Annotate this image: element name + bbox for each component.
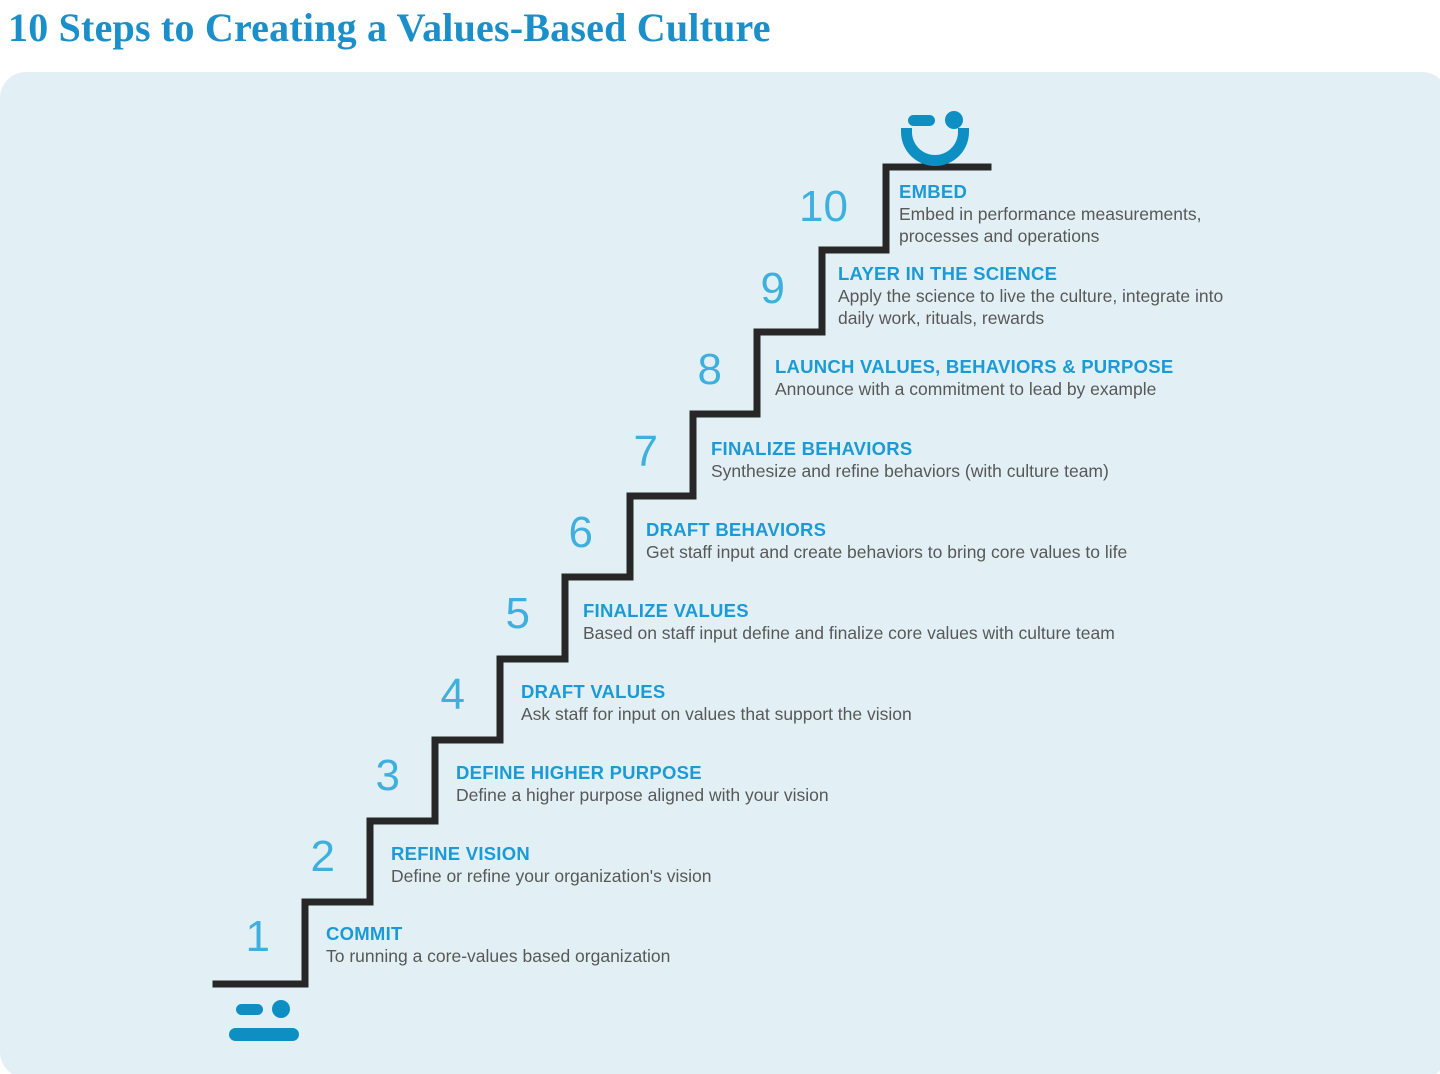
infographic-page: 10 Steps to Creating a Values-Based Cult… (0, 0, 1440, 1074)
step-number-1: 1 (200, 915, 270, 959)
step-description-6: Get staff input and create behaviors to … (646, 541, 1127, 563)
step-text-3: DEFINE HIGHER PURPOSE Define a higher pu… (456, 761, 829, 806)
smiley-left-eye-dash-icon (908, 115, 935, 126)
winking-smiley-face-icon (899, 108, 991, 166)
step-heading-3: DEFINE HIGHER PURPOSE (456, 761, 829, 784)
step-number-10: 10 (760, 185, 848, 229)
step-description-10: Embed in performance measurements, proce… (899, 203, 1249, 247)
neutral-mouth-bar-icon (229, 1028, 299, 1041)
smiley-mouth-curve-icon (901, 128, 969, 166)
page-title: 10 Steps to Creating a Values-Based Cult… (8, 2, 771, 54)
step-heading-10: EMBED (899, 180, 1249, 203)
neutral-right-eye-dot-icon (272, 1000, 290, 1018)
step-number-9: 9 (715, 267, 785, 311)
step-description-5: Based on staff input define and finalize… (583, 622, 1115, 644)
step-heading-9: LAYER IN THE SCIENCE (838, 262, 1228, 285)
step-description-4: Ask staff for input on values that suppo… (521, 703, 912, 725)
step-heading-4: DRAFT VALUES (521, 680, 912, 703)
step-description-2: Define or refine your organization's vis… (391, 865, 711, 887)
step-number-4: 4 (395, 673, 465, 717)
step-description-9: Apply the science to live the culture, i… (838, 285, 1228, 329)
step-text-10: EMBED Embed in performance measurements,… (899, 180, 1249, 247)
step-text-6: DRAFT BEHAVIORS Get staff input and crea… (646, 518, 1127, 563)
step-number-5: 5 (460, 592, 530, 636)
step-heading-6: DRAFT BEHAVIORS (646, 518, 1127, 541)
neutral-face-icon (228, 1000, 308, 1044)
step-heading-8: LAUNCH VALUES, BEHAVIORS & PURPOSE (775, 355, 1173, 378)
step-text-8: LAUNCH VALUES, BEHAVIORS & PURPOSE Annou… (775, 355, 1173, 400)
step-description-1: To running a core-values based organizat… (326, 945, 670, 967)
step-number-3: 3 (330, 754, 400, 798)
step-heading-1: COMMIT (326, 922, 670, 945)
step-text-2: REFINE VISION Define or refine your orga… (391, 842, 711, 887)
step-text-1: COMMIT To running a core-values based or… (326, 922, 670, 967)
step-text-4: DRAFT VALUES Ask staff for input on valu… (521, 680, 912, 725)
step-description-8: Announce with a commitment to lead by ex… (775, 378, 1173, 400)
step-heading-7: FINALIZE BEHAVIORS (711, 437, 1109, 460)
step-number-6: 6 (523, 511, 593, 555)
neutral-left-eye-dash-icon (236, 1004, 263, 1015)
step-heading-2: REFINE VISION (391, 842, 711, 865)
smiley-right-eye-dot-icon (945, 111, 963, 129)
step-text-5: FINALIZE VALUES Based on staff input def… (583, 599, 1115, 644)
step-description-7: Synthesize and refine behaviors (with cu… (711, 460, 1109, 482)
step-number-7: 7 (588, 430, 658, 474)
step-text-9: LAYER IN THE SCIENCE Apply the science t… (838, 262, 1228, 329)
step-number-8: 8 (652, 348, 722, 392)
step-text-7: FINALIZE BEHAVIORS Synthesize and refine… (711, 437, 1109, 482)
step-description-3: Define a higher purpose aligned with you… (456, 784, 829, 806)
step-number-2: 2 (265, 835, 335, 879)
step-heading-5: FINALIZE VALUES (583, 599, 1115, 622)
